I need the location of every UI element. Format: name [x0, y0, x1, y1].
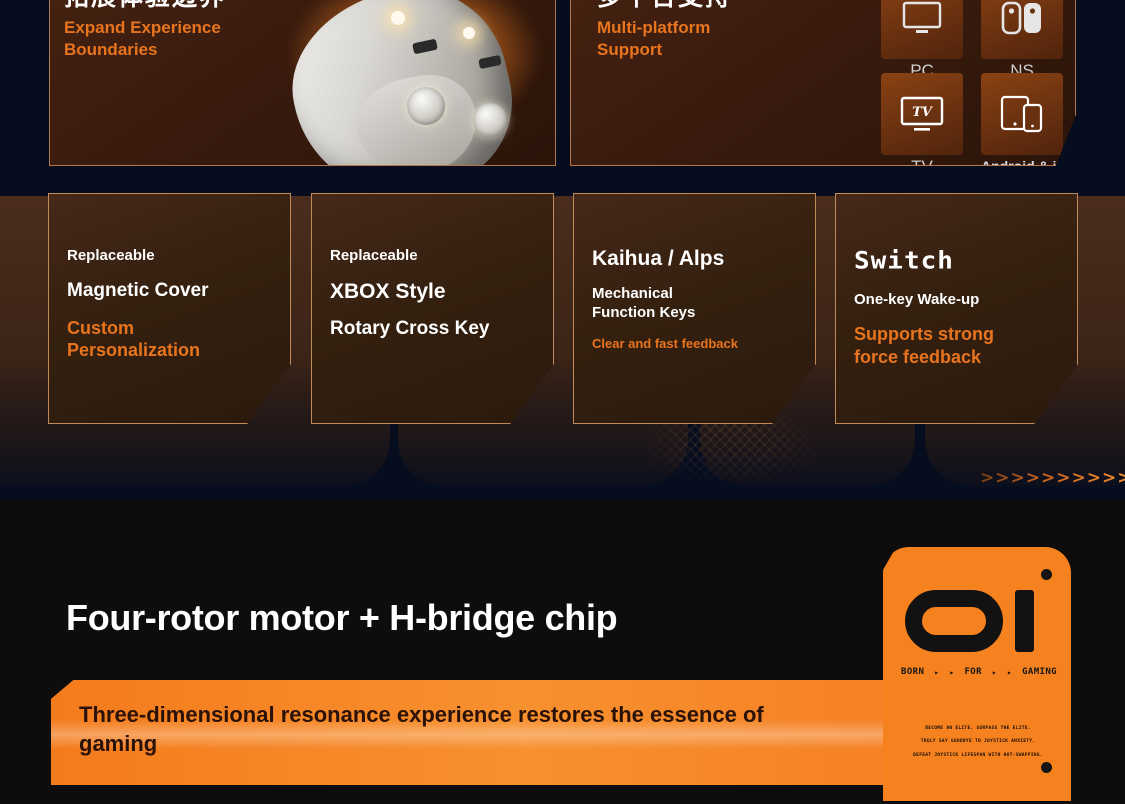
- controller-led-glow: [463, 27, 475, 39]
- feature-card-switch-wakeup[interactable]: Switch One-key Wake-up Supports strongfo…: [835, 193, 1078, 424]
- panel-cn-heading: 拓展体验边界: [64, 0, 226, 13]
- platform-label-tv: TV: [881, 157, 963, 166]
- triangle-icon: ▸: [949, 668, 954, 677]
- brand-logo-card: BORN ▸ ▸ FOR ▸ ▸ GAMING BECOME AN ELITE,…: [883, 547, 1071, 801]
- panel-multi-platform: 多平台支持 Multi-platformSupport Opening PC: [570, 0, 1076, 166]
- triangle-icon: ▸: [934, 668, 939, 677]
- platform-tile-ns: NS: [981, 0, 1063, 59]
- card2-line2: XBOX Style: [330, 279, 539, 305]
- fineprint-line-3: DEFEAT JOYSTICK LIFESPAN WITH HOT-SWAPPI…: [895, 749, 1061, 762]
- card2-line1: Replaceable: [330, 246, 539, 265]
- orange-ribbon-banner: Three-dimensional resonance experience r…: [51, 680, 911, 785]
- pc-icon: [902, 1, 942, 35]
- tagline-gaming: GAMING: [1022, 667, 1057, 677]
- tagline-born: BORN: [901, 667, 924, 677]
- card4-highlight: Supports strongforce feedback: [854, 323, 1063, 368]
- panel-en-heading: Expand ExperienceBoundaries: [64, 17, 221, 62]
- upper-section: 拓展体验边界 Expand ExperienceBoundaries 多平台支持…: [0, 0, 1125, 500]
- tv-icon: TV: [900, 96, 944, 132]
- platform-label-mobile: Android & iOSNative: [981, 157, 1063, 166]
- controller-illustration: [233, 0, 556, 166]
- nintendo-switch-icon: [1001, 1, 1043, 35]
- brand-logo-icon: [905, 590, 1034, 652]
- svg-text:TV: TV: [912, 105, 934, 120]
- fineprint-line-2: TRULY SAY GOODBYE TO JOYSTICK ANXIETY.: [895, 735, 1061, 748]
- logo-o-shape: [905, 590, 1003, 652]
- platform-icon-grid: Opening PC: [881, 0, 1063, 155]
- controller-led-glow: [391, 11, 405, 25]
- screw-dot-top: [1041, 569, 1052, 580]
- panel-en-heading: Multi-platformSupport: [597, 17, 710, 62]
- section-title: Four-rotor motor + H-bridge chip: [66, 597, 617, 639]
- tagline-for: FOR: [964, 667, 981, 677]
- controller-thumbstick: [473, 103, 507, 137]
- card4-title: Switch: [854, 247, 1063, 275]
- brand-fineprint: BECOME AN ELITE, SURPASS THE ELITE. TRUL…: [895, 722, 1061, 762]
- platform-tile-pc: Opening PC: [881, 0, 963, 59]
- card3-line2: MechanicalFunction Keys: [592, 284, 801, 322]
- card3-title: Kaihua / Alps: [592, 246, 801, 272]
- triangle-icon: ▸: [1007, 668, 1012, 677]
- card1-highlight: CustomPersonalization: [67, 317, 276, 362]
- panel-cn-heading: 多平台支持: [597, 0, 732, 13]
- card3-highlight: Clear and fast feedback: [592, 336, 801, 353]
- chevron-arrows-decoration: >>>>>>>>>>>>>: [980, 468, 1125, 488]
- feature-card-xbox-style[interactable]: Replaceable XBOX Style Rotary Cross Key: [311, 193, 554, 424]
- logo-i-shape: [1015, 590, 1034, 652]
- ribbon-text: Three-dimensional resonance experience r…: [79, 700, 839, 758]
- screw-dot-bottom: [1041, 762, 1052, 773]
- feature-card-mechanical-keys[interactable]: Kaihua / Alps MechanicalFunction Keys Cl…: [573, 193, 816, 424]
- controller-thumbstick: [407, 87, 445, 125]
- card1-line2: Magnetic Cover: [67, 279, 276, 303]
- feature-card-magnetic-cover[interactable]: Replaceable Magnetic Cover CustomPersona…: [48, 193, 291, 424]
- triangle-icon: ▸: [992, 668, 997, 677]
- brand-tagline: BORN ▸ ▸ FOR ▸ ▸ GAMING: [901, 667, 1057, 677]
- card4-line2: One-key Wake-up: [854, 290, 1063, 309]
- platform-tile-mobile: Android & iOSNative: [981, 73, 1063, 155]
- card1-line1: Replaceable: [67, 246, 276, 265]
- card2-line3: Rotary Cross Key: [330, 317, 539, 341]
- fineprint-line-1: BECOME AN ELITE, SURPASS THE ELITE.: [895, 722, 1061, 735]
- platform-tile-tv: TV TV: [881, 73, 963, 155]
- mobile-devices-icon: [1000, 95, 1044, 133]
- panel-expand-experience: 拓展体验边界 Expand ExperienceBoundaries: [49, 0, 556, 166]
